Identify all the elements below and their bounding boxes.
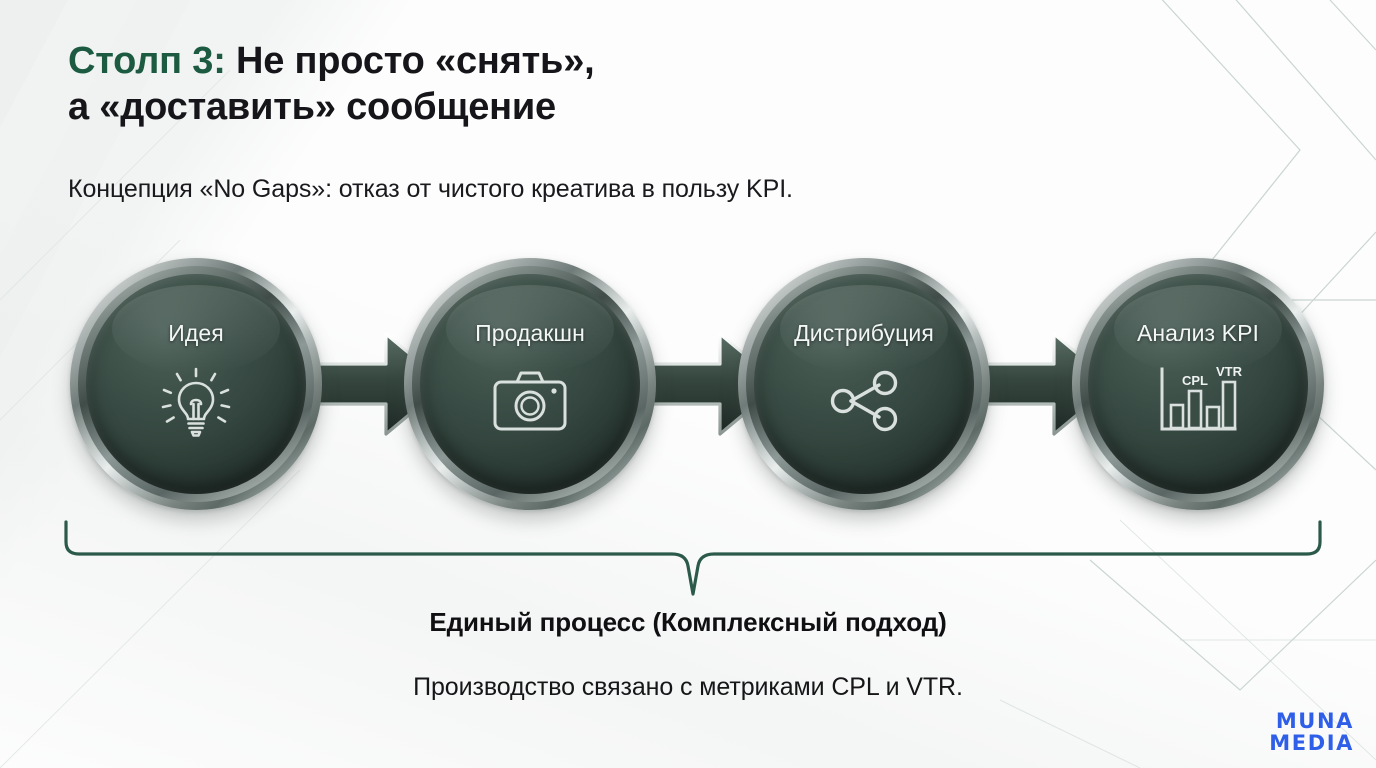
- logo-line-1: MUNA: [1269, 711, 1354, 732]
- title-accent: Столп 3:: [68, 40, 226, 82]
- node-face: Идея: [86, 274, 306, 494]
- brand-logo: MUNA MEDIA: [1269, 711, 1354, 754]
- slide-subtitle: Концепция «No Gaps»: отказ от чистого кр…: [68, 175, 793, 204]
- process-node-label: Продакшн: [475, 320, 585, 347]
- node-face: Продакшн: [420, 274, 640, 494]
- logo-line-2: MEDIA: [1269, 733, 1354, 754]
- node-face: Анализ KPI CPL: [1088, 274, 1308, 494]
- slide-root: Столп 3: Не просто «снять», а «доставить…: [0, 0, 1376, 768]
- share-network-icon: [826, 363, 902, 439]
- lightbulb-icon: [158, 363, 234, 439]
- process-node-idea[interactable]: Идея: [70, 258, 322, 510]
- kpi-bar-label-cpl: CPL: [1182, 373, 1208, 388]
- bar-chart-icon: CPL VTR: [1160, 363, 1236, 439]
- process-node-label: Дистрибуция: [794, 320, 934, 347]
- process-node-label: Идея: [168, 320, 224, 347]
- node-face: Дистрибуция: [754, 274, 974, 494]
- title-rest: Не просто «снять»,: [226, 40, 595, 82]
- camera-icon: [492, 363, 568, 439]
- process-node-label: Анализ KPI: [1137, 320, 1259, 347]
- kpi-bar-label-vtr: VTR: [1216, 364, 1243, 379]
- process-flow-diagram: Идея: [60, 258, 1330, 510]
- process-node-distribution[interactable]: Дистрибуция: [738, 258, 990, 510]
- grouping-brace: [62, 520, 1324, 598]
- slide-title: Столп 3: Не просто «снять», а «доставить…: [68, 38, 908, 131]
- process-node-kpi-analysis[interactable]: Анализ KPI CPL: [1072, 258, 1324, 510]
- title-line-2: а «доставить» сообщение: [68, 86, 556, 128]
- caption-unified-process: Единый процесс (Комплексный подход): [0, 607, 1376, 638]
- caption-metrics-note: Производство связано с метриками CPL и V…: [0, 673, 1376, 702]
- process-node-production[interactable]: Продакшн: [404, 258, 656, 510]
